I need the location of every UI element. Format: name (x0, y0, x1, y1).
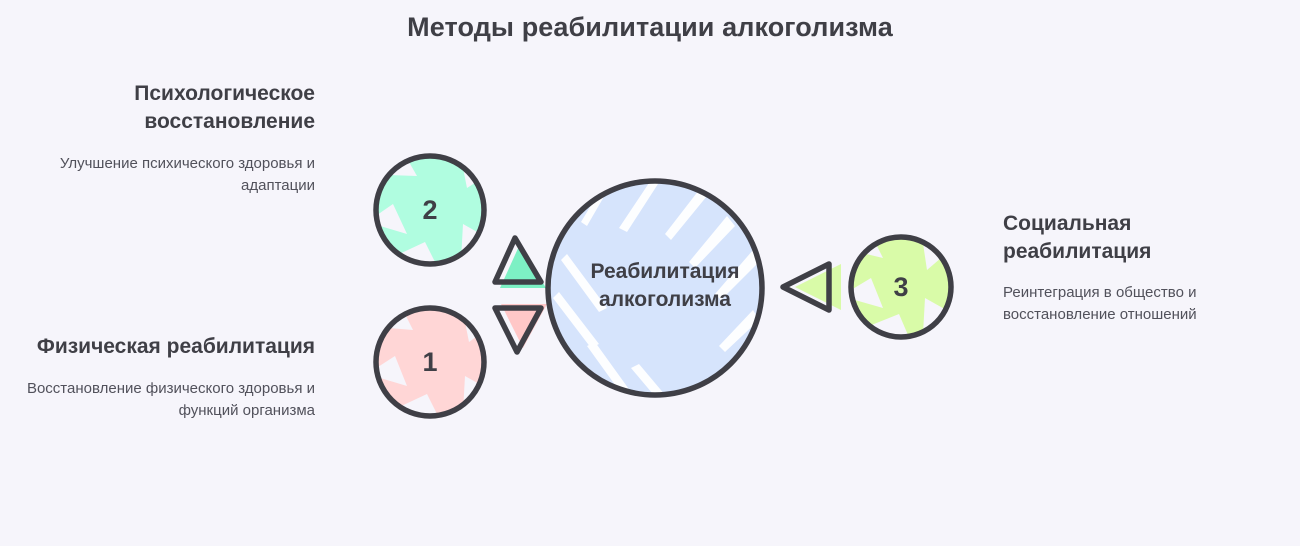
text-block-social: Социальная реабилитация Реинтеграция в о… (1003, 210, 1273, 325)
block-body-physical: Восстановление физического здоровья и фу… (25, 378, 315, 422)
diagram-graphic: 2 1 (355, 130, 975, 430)
node-number-2: 2 (422, 195, 437, 225)
block-heading-physical: Физическая реабилитация (25, 333, 315, 361)
node-number-3: 3 (893, 272, 908, 302)
node-number-1: 1 (422, 347, 437, 377)
center-circle[interactable] (545, 170, 767, 406)
node-circle-2[interactable]: 2 (361, 148, 495, 270)
block-body-social: Реинтеграция в общество и восстановление… (1003, 282, 1273, 326)
block-heading-social: Социальная реабилитация (1003, 210, 1273, 266)
arrow-down-from-node-1 (495, 304, 547, 352)
block-heading-psychological: Психологическое восстановление (25, 80, 315, 136)
node-circle-3[interactable]: 3 (841, 230, 957, 342)
arrow-up-from-node-2 (495, 238, 546, 288)
infographic-canvas: Методы реабилитации алкоголизма Психолог… (0, 0, 1300, 546)
text-block-psychological: Психологическое восстановление Улучшение… (25, 80, 315, 196)
block-body-psychological: Улучшение психического здоровья и адапта… (25, 153, 315, 197)
node-circle-1[interactable]: 1 (365, 302, 497, 422)
text-block-physical: Физическая реабилитация Восстановление ф… (25, 333, 315, 421)
arrow-left-from-node-3 (783, 264, 841, 310)
page-title: Методы реабилитации алкоголизма (0, 12, 1300, 43)
